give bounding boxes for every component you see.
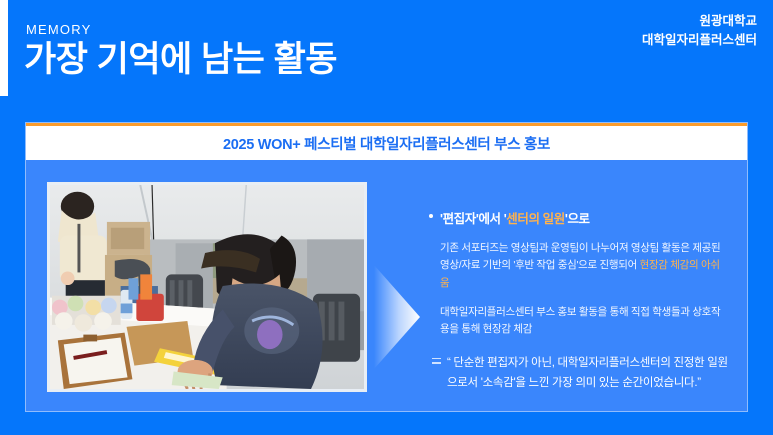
quote-text: “ 단순한 편집자가 아닌, 대학일자리플러스센터의 진정한 일원으로서 '소속… <box>447 353 729 393</box>
organization-logo-text: 원광대학교 대학일자리플러스센터 <box>642 12 757 50</box>
paragraph-before: 기존 서포터즈는 영상팀과 운영팀이 나누어져 영상팀 활동은 제공된 영상/자… <box>440 240 729 292</box>
photo-illustration <box>50 185 364 389</box>
content-heading-text: '편집자'에서 '센터의 일원'으로 <box>440 208 590 227</box>
arrow-right-glyph <box>374 265 420 369</box>
org-center-name: 대학일자리플러스센터 <box>642 31 757 50</box>
heading-part-1: '편집자'에서 ' <box>440 212 506 226</box>
card-body: '편집자'에서 '센터의 일원'으로 기존 서포터즈는 영상팀과 운영팀이 나누… <box>26 160 747 413</box>
left-accent-bar <box>0 0 8 96</box>
card-title: 2025 WON+ 페스티벌 대학일자리플러스센터 부스 홍보 <box>223 133 550 154</box>
eyebrow-label: MEMORY <box>26 22 91 37</box>
transition-arrow-icon <box>374 265 420 369</box>
equals-mark-icon <box>432 358 441 367</box>
activity-photo <box>47 182 367 392</box>
content-card: 2025 WON+ 페스티벌 대학일자리플러스센터 부스 홍보 <box>25 122 748 412</box>
org-university-name: 원광대학교 <box>642 12 757 31</box>
heading-part-2: '으로 <box>565 212 590 226</box>
page-title: 가장 기억에 남는 활동 <box>24 41 337 80</box>
paragraph-after: 대학일자리플러스센터 부스 홍보 활동을 통해 직접 학생들과 상호작용을 통해… <box>440 304 729 339</box>
text-column: '편집자'에서 '센터의 일원'으로 기존 서포터즈는 영상팀과 운영팀이 나누… <box>429 208 729 393</box>
heading-highlight: 센터의 일원 <box>506 212 565 226</box>
card-header: 2025 WON+ 페스티벌 대학일자리플러스센터 부스 홍보 <box>26 123 747 160</box>
content-heading: '편집자'에서 '센터의 일원'으로 <box>429 208 729 227</box>
bullet-dot-icon <box>429 214 433 218</box>
quote-block: “ 단순한 편집자가 아닌, 대학일자리플러스센터의 진정한 일원으로서 '소속… <box>432 353 729 393</box>
